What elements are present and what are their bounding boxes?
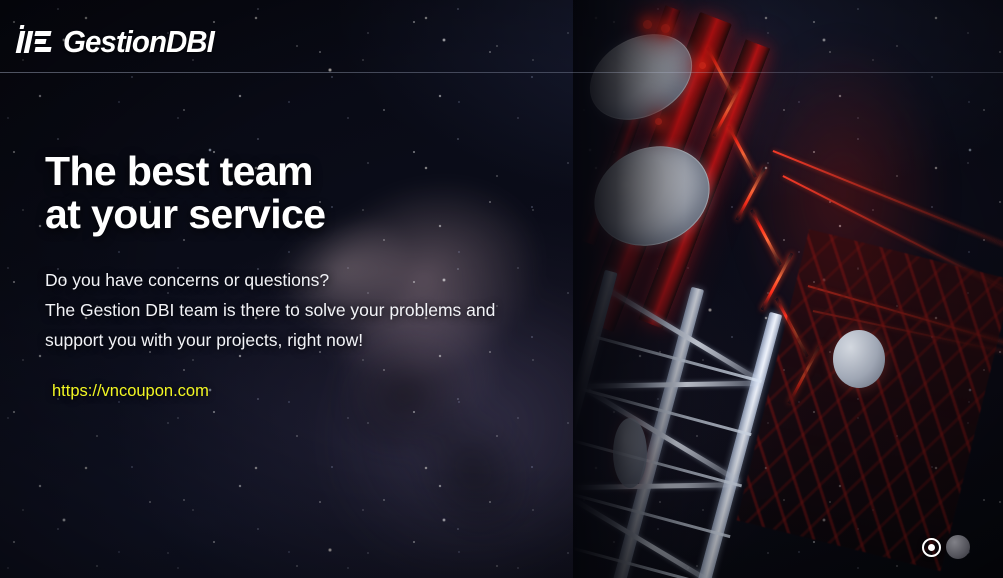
logo-mark-bar: [24, 31, 34, 53]
logo-mark-dot: [20, 25, 25, 29]
site-header: GestionDBI: [0, 0, 1003, 72]
logo-mark-block: [34, 47, 51, 52]
radio-tower-image: [573, 0, 1003, 578]
hero-content: The best team at your service Do you hav…: [45, 150, 495, 401]
hero-banner: GestionDBI The best team at your service…: [0, 0, 1003, 578]
logo-mark-block: [34, 39, 46, 44]
brand-name: GestionDBI: [63, 24, 214, 60]
logo-mark-block: [34, 31, 51, 36]
record-indicator-icon[interactable]: [922, 538, 941, 557]
header-divider: [0, 72, 1003, 73]
hero-description: Do you have concerns or questions? The G…: [45, 265, 495, 355]
brand-logo[interactable]: GestionDBI: [16, 24, 222, 60]
image-edge-fade: [573, 0, 1003, 578]
description-line-3: support you with your projects, right no…: [45, 325, 495, 355]
vncoupon-link[interactable]: https://vncoupon.com: [52, 382, 209, 401]
sphere-icon: [946, 535, 970, 559]
description-line-1: Do you have concerns or questions?: [45, 265, 495, 295]
description-line-2: The Gestion DBI team is there to solve y…: [45, 295, 495, 325]
headline-line-1: The best team: [45, 150, 495, 193]
headline-line-2: at your service: [45, 193, 495, 236]
page-title: The best team at your service: [45, 150, 495, 235]
gestion-dbi-logo-mark-icon: [16, 29, 56, 55]
